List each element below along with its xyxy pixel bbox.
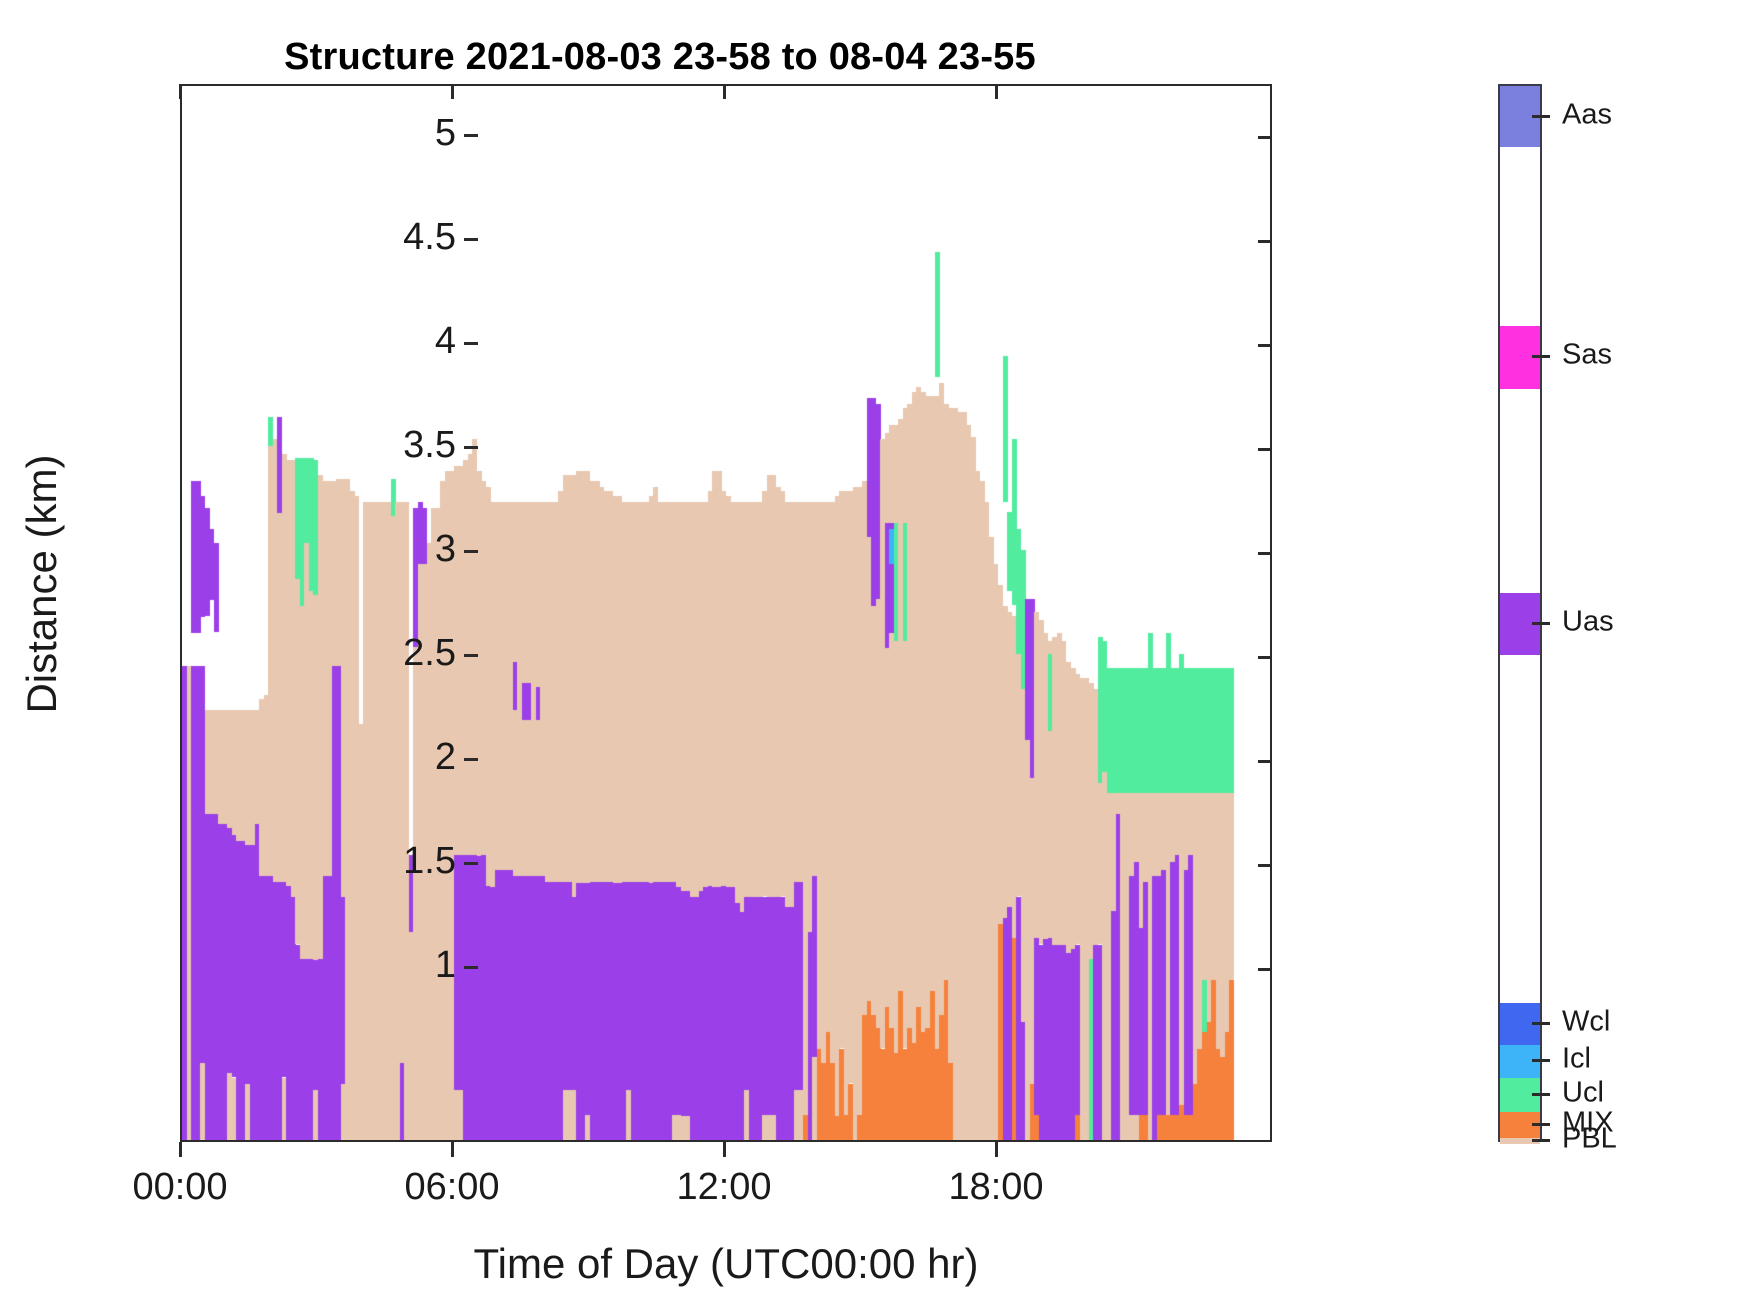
y-tick-mark-right	[1258, 344, 1272, 347]
colorbar-label-aas: Aas	[1562, 98, 1612, 131]
y-tick-mark-right	[1258, 240, 1272, 243]
y-tick-mark-right	[1258, 968, 1272, 971]
y-tick-mark	[464, 654, 478, 657]
y-tick-mark	[464, 238, 478, 241]
colorbar-label-ucl: Ucl	[1562, 1077, 1604, 1110]
y-axis-label: Distance (km)	[18, 324, 66, 844]
y-tick-label: 3.5	[403, 424, 456, 467]
x-tick-mark	[995, 1142, 998, 1157]
y-tick-mark-right	[1258, 864, 1272, 867]
x-axis-label: Time of Day (UTC00:00 hr)	[180, 1240, 1272, 1288]
x-tick-mark-top	[995, 84, 998, 99]
x-tick-mark-top	[723, 84, 726, 99]
colorbar-label-wcl: Wcl	[1562, 1005, 1610, 1038]
x-tick-mark-top	[179, 84, 182, 99]
x-tick-label: 06:00	[404, 1166, 499, 1209]
y-tick-mark-right	[1258, 136, 1272, 139]
x-tick-label: 12:00	[676, 1166, 771, 1209]
x-tick-mark	[451, 1142, 454, 1157]
x-tick-mark	[179, 1142, 182, 1157]
colorbar-track	[1498, 84, 1542, 1142]
colorbar-tick-icl	[1532, 1059, 1550, 1062]
colorbar-tick-ucl	[1532, 1093, 1550, 1096]
y-tick-mark	[464, 446, 478, 449]
y-tick-mark-right	[1258, 760, 1272, 763]
colorbar	[1498, 84, 1542, 1142]
x-tick-label: 18:00	[948, 1166, 1043, 1209]
figure-root: Structure 2021-08-03 23-58 to 08-04 23-5…	[0, 0, 1750, 1313]
chart-title: Structure 2021-08-03 23-58 to 08-04 23-5…	[0, 36, 1320, 79]
y-tick-label: 2.5	[403, 632, 456, 675]
y-tick-mark-right	[1258, 552, 1272, 555]
x-tick-mark-top	[451, 84, 454, 99]
y-tick-label: 4.5	[403, 216, 456, 259]
y-tick-label: 3	[435, 528, 456, 571]
y-tick-mark	[464, 550, 478, 553]
colorbar-tick-uas	[1532, 622, 1550, 625]
y-tick-mark	[464, 342, 478, 345]
colorbar-tick-mix	[1532, 1123, 1550, 1126]
colorbar-tick-sas	[1532, 355, 1550, 358]
y-tick-label: 1	[435, 944, 456, 987]
y-tick-label: 1.5	[403, 840, 456, 883]
colorbar-label-icl: Icl	[1562, 1043, 1591, 1076]
colorbar-label-sas: Sas	[1562, 339, 1612, 372]
plot-area	[180, 84, 1272, 1142]
colorbar-label-pbl: PBL	[1562, 1122, 1617, 1155]
y-tick-mark	[464, 758, 478, 761]
y-tick-label: 5	[435, 112, 456, 155]
y-tick-mark	[464, 966, 478, 969]
x-tick-mark	[723, 1142, 726, 1157]
y-tick-mark-right	[1258, 656, 1272, 659]
y-tick-label: 2	[435, 736, 456, 779]
colorbar-tick-pbl	[1532, 1139, 1550, 1142]
colorbar-label-uas: Uas	[1562, 605, 1614, 638]
y-tick-label: 4	[435, 320, 456, 363]
colorbar-tick-aas	[1532, 115, 1550, 118]
y-tick-mark	[464, 134, 478, 137]
structure-heatmap-canvas	[182, 86, 1270, 1140]
y-tick-mark	[464, 862, 478, 865]
x-tick-label: 00:00	[132, 1166, 227, 1209]
colorbar-tick-wcl	[1532, 1022, 1550, 1025]
y-tick-mark-right	[1258, 448, 1272, 451]
